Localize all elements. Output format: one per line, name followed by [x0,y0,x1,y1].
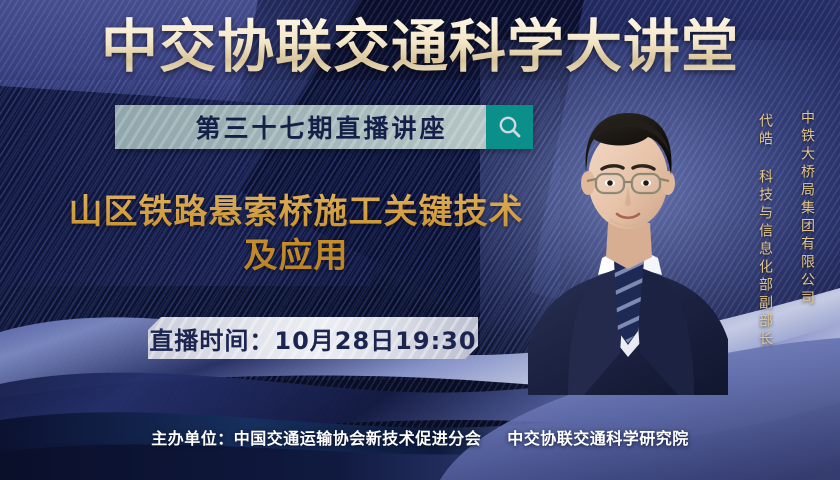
organizer-primary: 中国交通运输协会新技术促进分会 [234,429,482,448]
broadcast-time-text: 直播时间：10月28日19:30 [149,321,476,356]
episode-label-field: 第三十七期直播讲座 [115,105,486,149]
page-title: 中交协联交通科学大讲堂 [0,16,840,78]
lecture-topic-line1: 山区铁路悬索桥施工关键技术 [69,192,524,232]
speaker-company: 中铁大桥局集团有限公司 [796,110,818,308]
speaker-portrait [528,95,728,395]
organizer-label: 主办单位： [151,429,234,448]
speaker-name-title: 代皓 科技与信息化部副部长 [754,113,776,349]
live-lecture-poster: 中交协联交通科学大讲堂 第三十七期直播讲座 山区铁路悬索桥施工关键技术 及应用 … [0,0,840,480]
episode-label: 第三十七期直播讲座 [153,109,447,145]
search-icon [497,114,523,140]
footer-organizers: 主办单位：中国交通运输协会新技术促进分会中交协联交通科学研究院 [0,425,840,449]
lecture-topic-line2: 及应用 [36,234,556,278]
organizer-secondary: 中交协联交通科学研究院 [507,429,689,448]
broadcast-time-plate: 直播时间：10月28日19:30 [148,317,478,359]
episode-banner: 第三十七期直播讲座 [115,105,533,149]
search-button[interactable] [486,105,533,149]
lecture-topic: 山区铁路悬索桥施工关键技术 及应用 [36,190,556,278]
